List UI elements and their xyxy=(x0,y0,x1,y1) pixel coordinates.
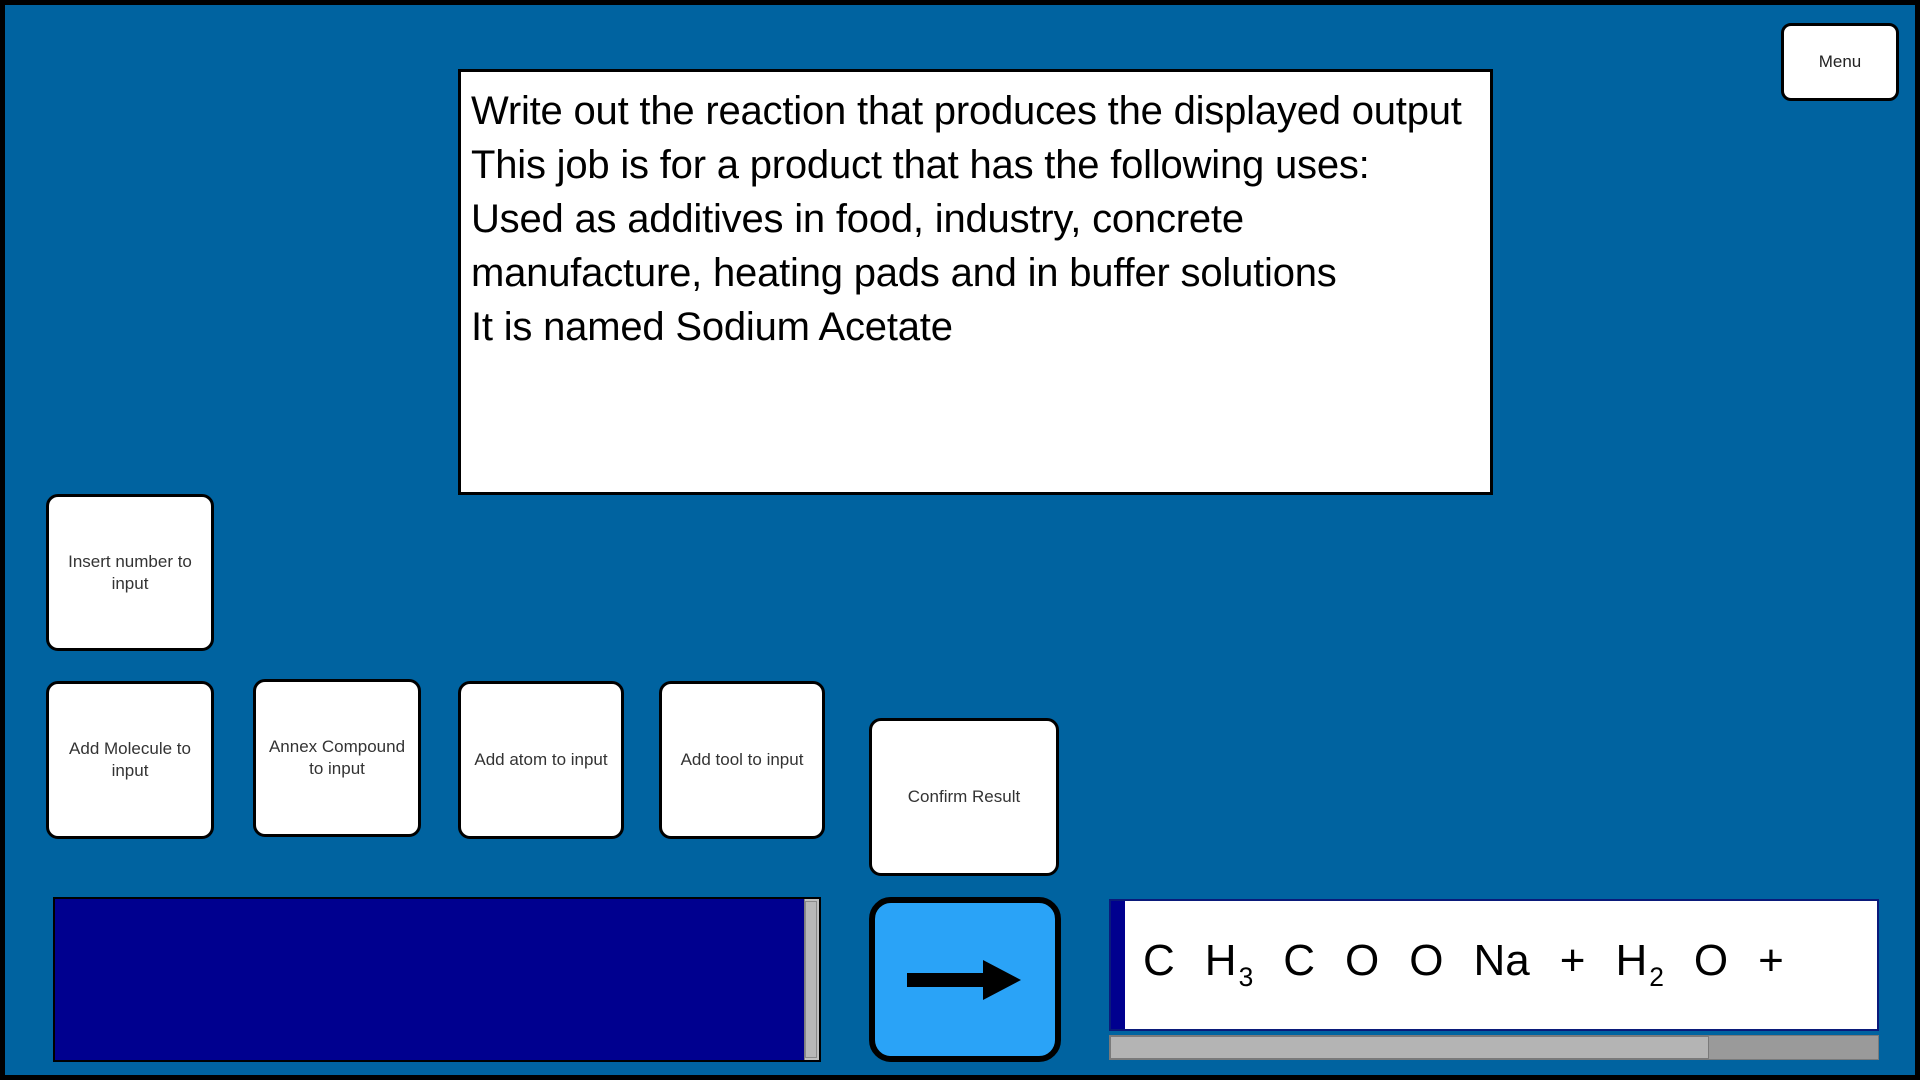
formula-token: H3 xyxy=(1205,939,1253,990)
prompt-panel: Write out the reaction that produces the… xyxy=(458,69,1493,495)
output-gutter xyxy=(1111,901,1125,1029)
input-vertical-scrollbar-thumb[interactable] xyxy=(805,901,817,1058)
insert-number-button[interactable]: Insert number to input xyxy=(46,494,214,651)
input-vertical-scrollbar[interactable] xyxy=(804,899,819,1060)
menu-button[interactable]: Menu xyxy=(1781,23,1899,101)
output-horizontal-scrollbar-thumb[interactable] xyxy=(1110,1036,1709,1059)
submit-arrow-button[interactable] xyxy=(869,897,1061,1062)
input-canvas-panel[interactable] xyxy=(53,897,821,1062)
formula-token: + xyxy=(1758,939,1784,983)
add-tool-label: Add tool to input xyxy=(681,749,804,771)
formula-subscript: 2 xyxy=(1649,962,1664,992)
confirm-result-button[interactable]: Confirm Result xyxy=(869,718,1059,876)
app-root: Menu Write out the reaction that produce… xyxy=(0,0,1920,1080)
annex-compound-button[interactable]: Annex Compound to input xyxy=(253,679,421,837)
formula-token: Na xyxy=(1474,939,1530,983)
insert-number-label: Insert number to input xyxy=(55,551,205,595)
formula-token: C xyxy=(1283,939,1315,983)
confirm-result-label: Confirm Result xyxy=(908,786,1020,808)
add-tool-button[interactable]: Add tool to input xyxy=(659,681,825,839)
annex-compound-label: Annex Compound to input xyxy=(262,736,412,780)
output-panel: CH3COONa+H2O+ xyxy=(1109,899,1879,1064)
menu-button-label: Menu xyxy=(1819,52,1862,72)
add-molecule-button[interactable]: Add Molecule to input xyxy=(46,681,214,839)
output-formula: CH3COONa+H2O+ xyxy=(1125,939,1877,990)
output-horizontal-scrollbar[interactable] xyxy=(1109,1035,1879,1060)
formula-token: + xyxy=(1560,939,1586,983)
add-molecule-label: Add Molecule to input xyxy=(55,738,205,782)
formula-token: C xyxy=(1143,939,1175,983)
formula-subscript: 3 xyxy=(1239,962,1254,992)
formula-token: H2 xyxy=(1615,939,1663,990)
output-formula-box[interactable]: CH3COONa+H2O+ xyxy=(1109,899,1879,1031)
input-canvas[interactable] xyxy=(55,899,804,1060)
add-atom-label: Add atom to input xyxy=(474,749,607,771)
formula-token: O xyxy=(1345,939,1379,983)
formula-token: O xyxy=(1694,939,1728,983)
formula-token: O xyxy=(1409,939,1443,983)
add-atom-button[interactable]: Add atom to input xyxy=(458,681,624,839)
arrow-right-icon xyxy=(905,954,1025,1006)
prompt-text: Write out the reaction that produces the… xyxy=(471,84,1482,354)
